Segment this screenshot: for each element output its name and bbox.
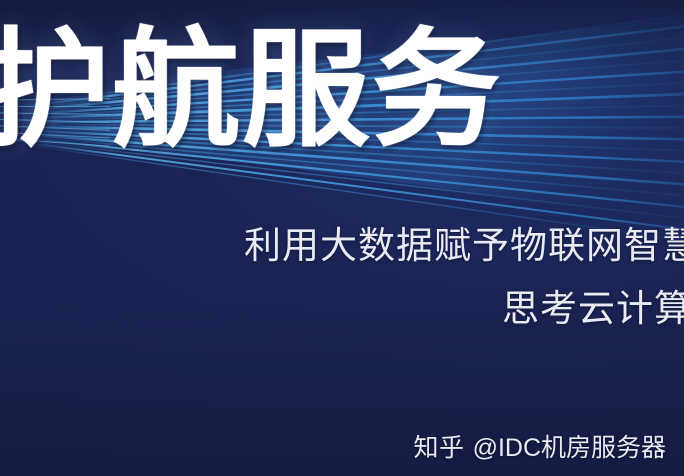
- banner-image: 护航服务 利用大数据赋予物联网智慧 思考云计算 知乎 @IDC机房服务器: [0, 0, 684, 476]
- watermark-platform: 知乎: [414, 428, 465, 464]
- subtitle-line-1: 利用大数据赋予物联网智慧: [0, 214, 684, 277]
- subtitle-block: 利用大数据赋予物联网智慧 思考云计算: [0, 214, 684, 340]
- watermark: 知乎 @IDC机房服务器: [414, 428, 666, 464]
- page-title: 护航服务: [0, 16, 582, 166]
- watermark-handle: @IDC机房服务器: [473, 428, 666, 464]
- subtitle-line-2: 思考云计算: [0, 277, 684, 340]
